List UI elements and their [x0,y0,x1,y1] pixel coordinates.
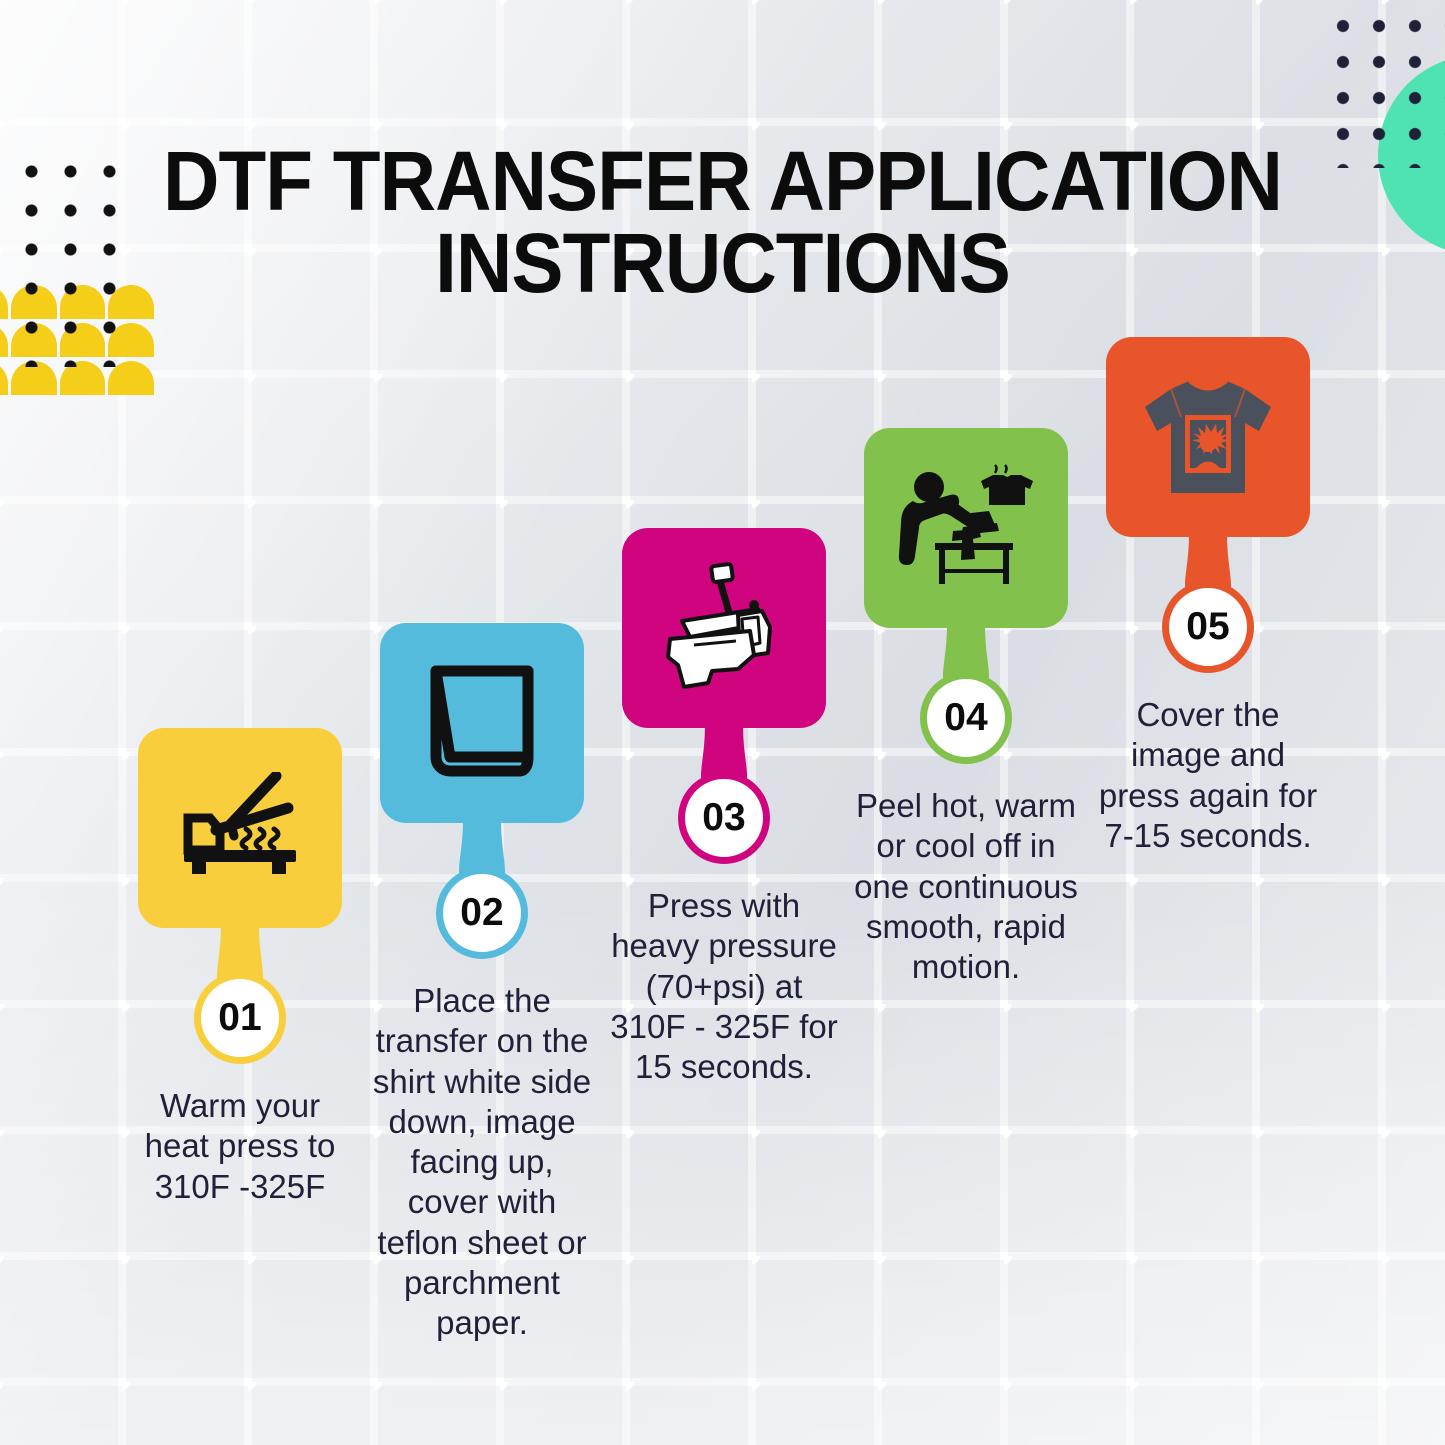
step-2: 02 Place the transfer on the shirt white… [362,623,602,1343]
step-1-icon-card[interactable] [138,728,342,928]
step-3-number: 03 [702,796,745,840]
step-1-number-badge: 01 [194,972,286,1064]
step-3-description: Press with heavy pressure (70+psi) at 31… [604,886,844,1087]
step-2-number: 02 [460,891,503,935]
person-ironing-icon [891,463,1041,593]
printed-tshirt-icon [1141,373,1275,501]
step-5-number: 05 [1186,605,1229,649]
step-3-number-badge: 03 [678,772,770,864]
step-4-number-badge: 04 [920,672,1012,764]
step-1-description: Warm your heat press to 310F -325F [120,1086,360,1207]
step-5-description: Cover the image and press again for 7-15… [1088,695,1328,856]
step-2-description: Place the transfer on the shirt white si… [362,981,602,1343]
step-3-icon-card[interactable] [622,528,826,728]
heat-press-machine-icon [654,561,794,695]
steps-container: 01 Warm your heat press to 310F -325F 02… [0,0,1445,1445]
step-5-number-badge: 05 [1162,581,1254,673]
step-1-number: 01 [218,996,261,1040]
step-4-number: 04 [944,696,987,740]
step-5-icon-card[interactable] [1106,337,1310,537]
step-4-icon-card[interactable] [864,428,1068,628]
step-1: 01 Warm your heat press to 310F -325F [120,728,360,1207]
transfer-sheet-icon [420,661,544,785]
step-5: 05 Cover the image and press again for 7… [1088,337,1328,856]
step-4-description: Peel hot, warm or cool off in one contin… [846,786,1086,987]
heat-press-icon [176,772,304,884]
step-4: 04 Peel hot, warm or cool off in one con… [846,428,1086,987]
step-3: 03 Press with heavy pressure (70+psi) at… [604,528,844,1087]
step-2-number-badge: 02 [436,867,528,959]
step-2-icon-card[interactable] [380,623,584,823]
